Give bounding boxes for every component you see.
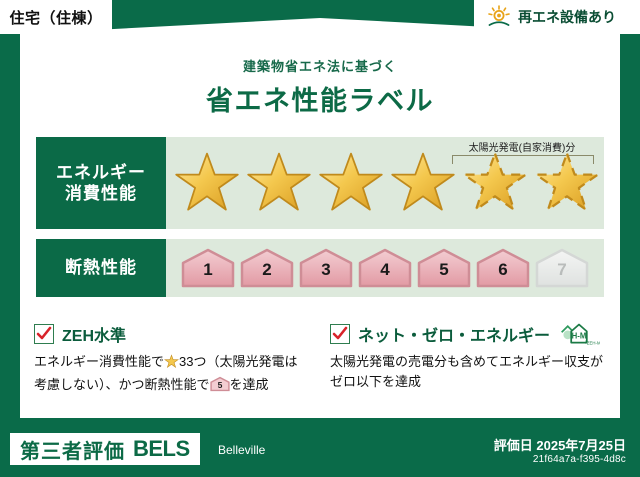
insulation-badge: 5 bbox=[416, 247, 472, 289]
energy-label-line1: エネルギー bbox=[56, 162, 146, 183]
insulation-badge: 4 bbox=[357, 247, 413, 289]
check-icon bbox=[36, 326, 52, 342]
energy-performance-label: エネルギー 消費性能 bbox=[36, 137, 166, 229]
zeh-body-pre: エネルギー消費性能で bbox=[34, 354, 164, 369]
insulation-badge-value: 3 bbox=[298, 260, 354, 280]
subtitle: 建築物省エネ法に基づく bbox=[0, 56, 640, 75]
insulation-badge-inactive: 7 bbox=[534, 247, 590, 289]
criteria-zeh-title: ZEH水準 bbox=[62, 322, 126, 346]
third-party-label: 第三者評価 bbox=[20, 435, 125, 464]
evaluation-date-label: 評価日 bbox=[494, 438, 533, 453]
criteria-zeh-body: エネルギー消費性能で33つ（太陽光発電は考慮しない）、かつ断熱性能で5を達成 bbox=[34, 352, 310, 398]
insulation-badge-value: 2 bbox=[239, 260, 295, 280]
evaluation-id: 21f64a7a-f395-4d8c bbox=[533, 454, 626, 465]
insulation-badge-value: 7 bbox=[534, 260, 590, 280]
insulation-badge: 2 bbox=[239, 247, 295, 289]
evaluation-date-value: 2025年7月25日 bbox=[536, 438, 626, 453]
insulation-performance-label: 断熱性能 bbox=[36, 239, 166, 297]
evaluation-date: 評価日 2025年7月25日 bbox=[494, 435, 626, 454]
insulation-badge: 6 bbox=[475, 247, 531, 289]
evaluator-name: Belleville bbox=[218, 443, 265, 457]
criteria-zeh: ZEH水準 エネルギー消費性能で33つ（太陽光発電は考慮しない）、かつ断熱性能で… bbox=[34, 322, 310, 398]
page-title: 省エネ性能ラベル bbox=[0, 79, 640, 118]
star-solar-dashed bbox=[532, 148, 602, 218]
insulation-badge: 1 bbox=[180, 247, 236, 289]
energy-label-card: 住宅（住棟） 再エネ設備あり 建築物省エネ法に基づく 省エネ性能ラベル bbox=[0, 0, 640, 477]
net-zero-checkbox bbox=[330, 324, 350, 344]
svg-text:『ZEH-M』: 『ZEH-M』 bbox=[583, 339, 600, 346]
insulation-badge: 3 bbox=[298, 247, 354, 289]
criteria-zeh-header: ZEH水準 bbox=[34, 322, 310, 346]
star-solar-dashed bbox=[460, 148, 530, 218]
bels-certification-box: 第三者評価 BELS bbox=[10, 433, 200, 465]
building-type-label: 住宅（住棟） bbox=[9, 7, 102, 28]
star-filled bbox=[316, 148, 386, 218]
star-rating bbox=[166, 137, 604, 229]
insulation-badge-list: 1 2 3 4 bbox=[166, 239, 604, 297]
svg-text:5: 5 bbox=[217, 380, 222, 390]
insulation-badge-value: 6 bbox=[475, 260, 531, 280]
criteria-net-zero: ネット・ゼロ・エネルギー H-M 『ZEH-M』 太陽光発電の売電分も含めてエネ… bbox=[330, 322, 606, 392]
energy-performance-row: エネルギー 消費性能 太陽光発電(自家消費)分 bbox=[36, 137, 604, 229]
star-filled bbox=[172, 148, 242, 218]
energy-performance-body: 太陽光発電(自家消費)分 bbox=[166, 137, 604, 229]
insulation-performance-row: 断熱性能 1 2 bbox=[36, 239, 604, 297]
footer-bar: 第三者評価 BELS Belleville 評価日 2025年7月25日 21f… bbox=[0, 425, 640, 477]
insulation-badge-value: 5 bbox=[416, 260, 472, 280]
zeh-m-logo-icon: H-M 『ZEH-M』 bbox=[558, 321, 600, 347]
star-filled bbox=[244, 148, 314, 218]
star-filled bbox=[388, 148, 458, 218]
sun-solar-icon bbox=[486, 5, 512, 29]
criteria-net-zero-title: ネット・ゼロ・エネルギー bbox=[358, 322, 550, 346]
energy-label-line2: 消費性能 bbox=[65, 183, 137, 204]
svg-text:H-M: H-M bbox=[572, 331, 587, 340]
renewable-badge-label: 再エネ設備あり bbox=[518, 7, 616, 27]
insulation-badge-value: 1 bbox=[180, 260, 236, 280]
insulation-performance-body: 1 2 3 4 bbox=[166, 239, 604, 297]
renewable-equipment-badge: 再エネ設備あり bbox=[474, 0, 640, 34]
inline-star-icon bbox=[164, 357, 179, 372]
bels-logo-text: BELS bbox=[133, 436, 190, 462]
check-icon bbox=[332, 326, 348, 342]
zeh-body-post: を達成 bbox=[230, 377, 269, 392]
insulation-label-text: 断熱性能 bbox=[65, 257, 137, 278]
insulation-badge-value: 4 bbox=[357, 260, 413, 280]
inline-insulation-badge-icon: 5 bbox=[210, 380, 230, 395]
zeh-checkbox bbox=[34, 324, 54, 344]
building-type-tab: 住宅（住棟） bbox=[0, 0, 112, 34]
criteria-net-zero-header: ネット・ゼロ・エネルギー H-M 『ZEH-M』 bbox=[330, 322, 606, 346]
title-block: 建築物省エネ法に基づく 省エネ性能ラベル bbox=[0, 56, 640, 118]
criteria-net-zero-body: 太陽光発電の売電分も含めてエネルギー収支がゼロ以下を達成 bbox=[330, 352, 606, 392]
